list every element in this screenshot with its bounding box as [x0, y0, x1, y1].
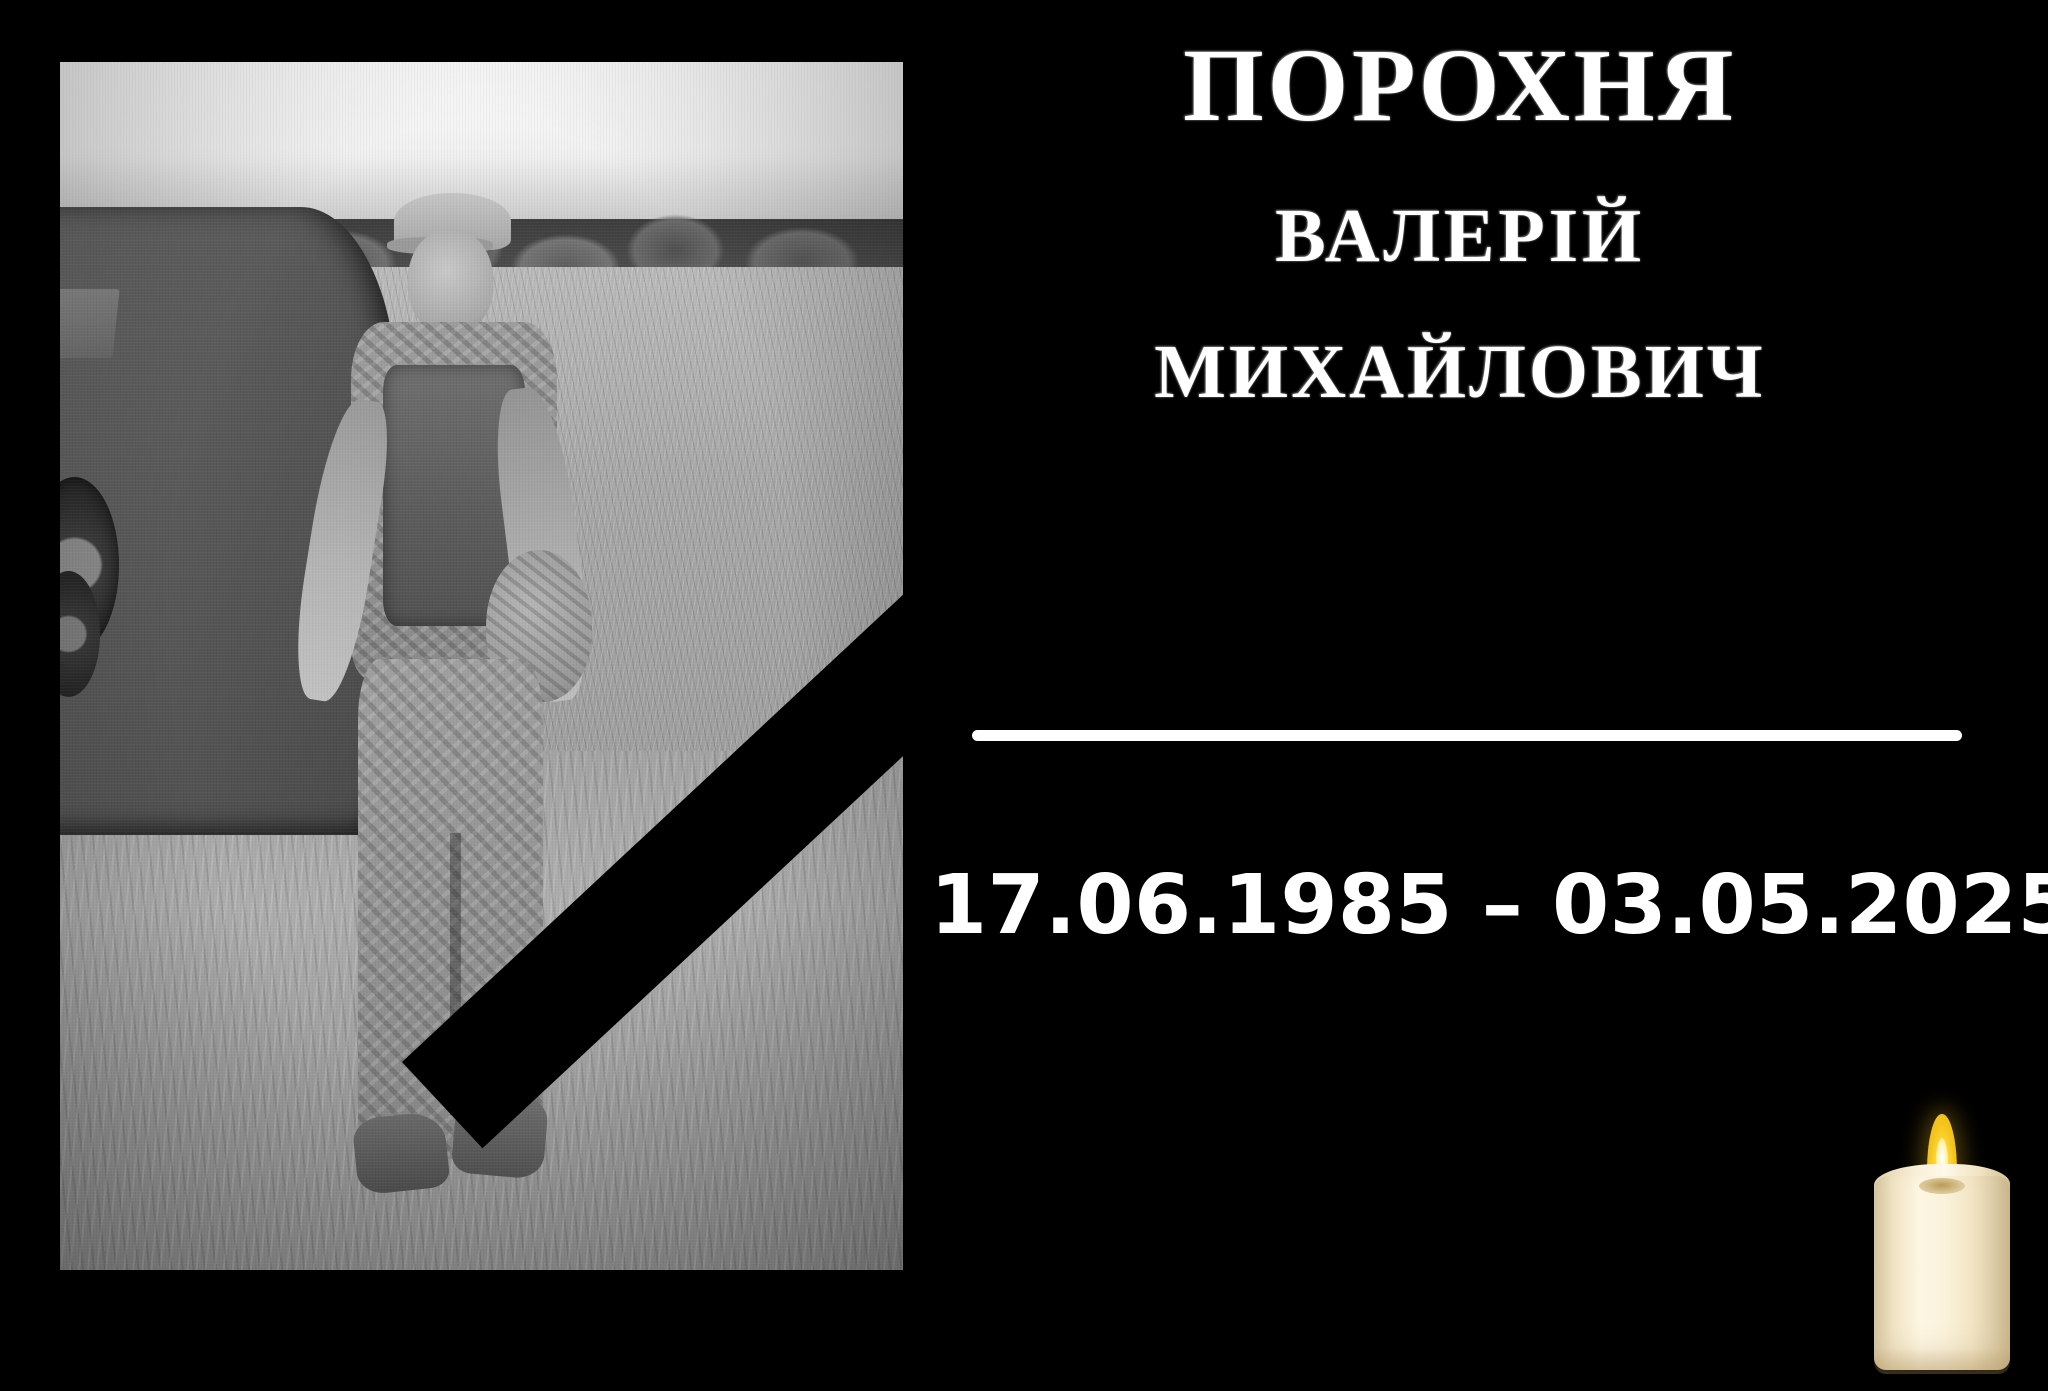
memorial-photo — [60, 62, 903, 1270]
memorial-card: ПОРОХНЯ ВАЛЕРІЙ МИХАЙЛОВИЧ 17.06.1985 – … — [0, 0, 2048, 1391]
photo-scene — [60, 62, 903, 1270]
soldier-head — [408, 229, 493, 332]
memorial-candle-icon — [1866, 1104, 2018, 1374]
patronymic-text: МИХАЙЛОВИЧ — [930, 334, 1990, 410]
candle-wax-well — [1919, 1178, 1965, 1194]
life-dates: 17.06.1985 – 03.05.2025 — [930, 858, 1990, 953]
name-block: ПОРОХНЯ ВАЛЕРІЙ МИХАЙЛОВИЧ — [930, 34, 1990, 410]
photo-soldier — [288, 159, 642, 1246]
vehicle-windshield — [60, 289, 119, 358]
firstname-text: ВАЛЕРІЙ — [930, 198, 1990, 274]
soldier-leg-gap — [450, 833, 461, 1116]
divider-rule — [972, 730, 1962, 741]
soldier-left-boot — [351, 1111, 450, 1196]
candle-base-shading — [1874, 1348, 2010, 1374]
surname-text: ПОРОХНЯ — [930, 34, 1990, 138]
soldier-right-boot — [451, 1090, 550, 1179]
candle-body — [1874, 1176, 2010, 1370]
